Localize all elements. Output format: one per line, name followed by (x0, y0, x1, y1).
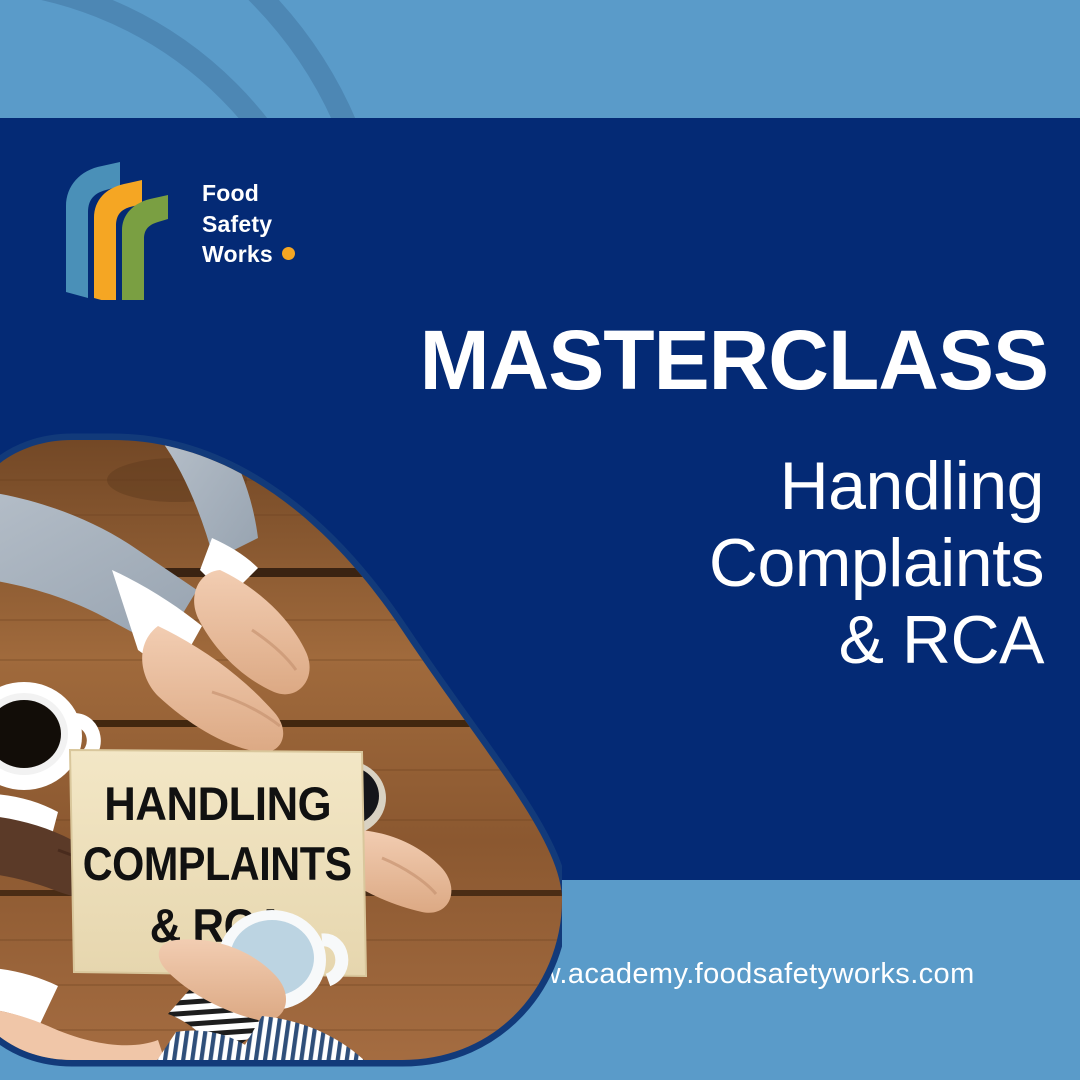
brand-accent-dot-icon (282, 247, 295, 260)
subtitle-line-1: Handling (574, 448, 1044, 525)
hero-photo: HANDLING COMPLAINTS & RCA (0, 420, 562, 1080)
hero-photo-svg: HANDLING COMPLAINTS & RCA (0, 420, 562, 1080)
photo-content: HANDLING COMPLAINTS & RCA (0, 420, 562, 1080)
decorative-dot-grid-top (520, 0, 1080, 122)
page-title: MASTERCLASS (420, 318, 1048, 402)
page-subtitle: Handling Complaints & RCA (574, 448, 1044, 678)
sign-line-1: HANDLING (104, 778, 331, 831)
subtitle-line-2: Complaints (574, 525, 1044, 602)
brand-name-line-1: Food (202, 178, 295, 209)
subtitle-line-3: & RCA (574, 602, 1044, 679)
brand-logo[interactable]: Food Safety Works (62, 160, 312, 310)
brand-name-line-2: Safety (202, 209, 295, 240)
poster-canvas: Food Safety Works MASTERCLASS Handling C… (0, 0, 1080, 1080)
food-safety-works-chevrons-icon (62, 160, 172, 300)
brand-name: Food Safety Works (202, 178, 295, 270)
sign-line-2: COMPLAINTS (83, 839, 352, 891)
brand-name-line-3: Works (202, 239, 295, 270)
website-url[interactable]: www.academy.foodsafetyworks.com (497, 958, 975, 991)
brand-name-line-3-text: Works (202, 241, 273, 267)
